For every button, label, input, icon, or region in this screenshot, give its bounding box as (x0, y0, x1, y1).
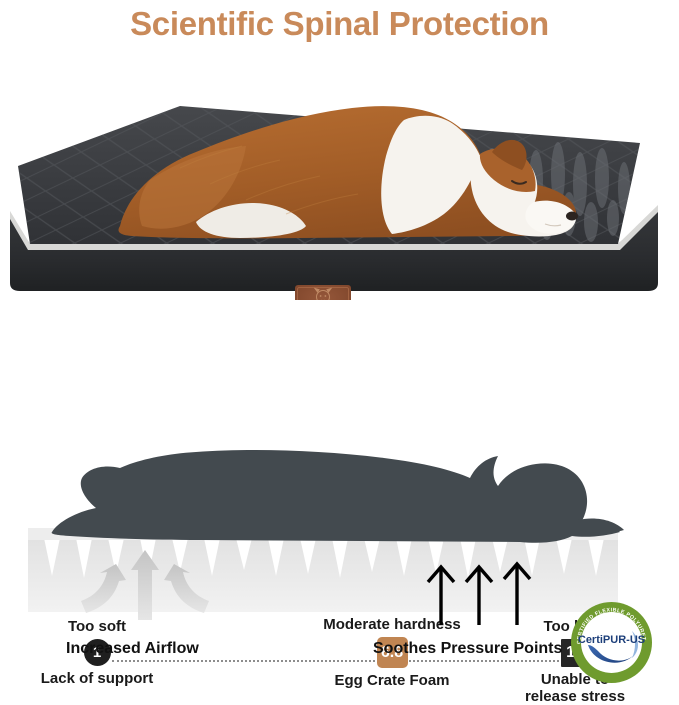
certipur-us-badge: CONTAINS CERTIFIED FLEXIBLE POLYURETHANE… (570, 601, 653, 684)
caption-increased-airflow: Increased Airflow (66, 640, 199, 658)
caption-soothes-pressure-points: Soothes Pressure Points (373, 640, 562, 658)
scale-bottom-label-lack-of-support: Lack of support (41, 670, 154, 687)
hero-product-photo (0, 48, 679, 300)
dog-silhouette (52, 450, 620, 543)
badge-wordmark: CertiPUR-US (578, 634, 645, 646)
title-bar: Scientific Spinal Protection (0, 0, 679, 48)
scale-bottom-label-egg-crate-foam: Egg Crate Foam (334, 672, 449, 689)
page-title: Scientific Spinal Protection (130, 5, 549, 43)
leather-brand-tag (295, 285, 351, 300)
hardness-scale: Too soft 1 Lack of support Moderate hard… (0, 306, 679, 416)
scale-bottom-label-line-2: release stress (525, 688, 625, 705)
dog-silhouette-tail (578, 518, 624, 533)
